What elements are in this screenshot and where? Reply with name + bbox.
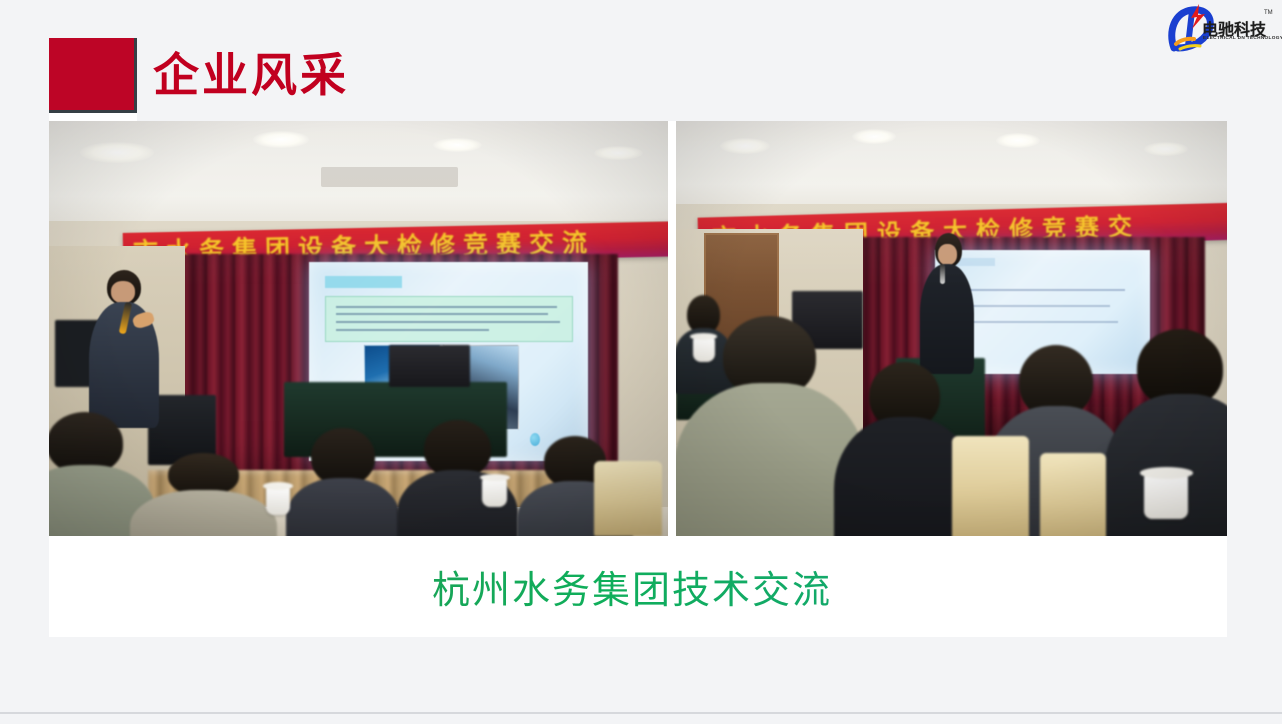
projector-equipment bbox=[389, 345, 469, 387]
ceiling-lamp-icon bbox=[253, 131, 309, 148]
caption-bar: 杭州水务集团技术交流 bbox=[49, 536, 1227, 637]
photo-row: 市水务集团设备大检修竞赛交流 bbox=[49, 121, 1227, 536]
chair bbox=[952, 436, 1029, 536]
ceiling-lamp-icon bbox=[852, 129, 896, 144]
ceiling-lamp-icon bbox=[996, 133, 1040, 148]
ceiling-vent bbox=[321, 167, 457, 188]
audience-body bbox=[286, 478, 400, 536]
speaker-face bbox=[938, 244, 957, 265]
microphone-icon bbox=[940, 264, 945, 284]
tea-cup bbox=[266, 486, 291, 515]
title-accent-swatch bbox=[49, 38, 137, 113]
brand-logo-trademark: TM bbox=[1264, 10, 1273, 16]
chair bbox=[594, 461, 662, 536]
ceiling bbox=[676, 121, 1227, 212]
speaker bbox=[918, 233, 979, 374]
slide-header: 企业风采 bbox=[49, 38, 1227, 118]
audience-member bbox=[841, 362, 968, 536]
audience-body bbox=[130, 490, 277, 536]
tea-cup bbox=[693, 337, 715, 362]
audience-member bbox=[136, 453, 272, 536]
presenter bbox=[86, 270, 166, 428]
slide-titlebar bbox=[325, 276, 402, 289]
ceiling-lamp-icon bbox=[720, 138, 770, 155]
ceiling-lamp-icon bbox=[80, 142, 154, 163]
brand-logo-name-en: ELECTRICAL DN TECHNOLOGY bbox=[1203, 35, 1282, 40]
speaker-body bbox=[920, 264, 975, 374]
tea-cup bbox=[1144, 474, 1188, 520]
chair bbox=[1040, 453, 1106, 536]
presenter-face bbox=[111, 281, 135, 303]
slide-canvas: 企业风采 电驰科技 ELECTRICAL DN TECHNOLOGY TM bbox=[0, 0, 1282, 712]
page-title: 企业风采 bbox=[153, 46, 349, 104]
slide-bottom-edge bbox=[0, 712, 1282, 724]
ceiling-lamp-icon bbox=[433, 138, 483, 153]
audience-head bbox=[311, 428, 374, 485]
brand-logo: 电驰科技 ELECTRICAL DN TECHNOLOGY TM bbox=[1164, 2, 1276, 54]
photo-right[interactable]: 市水务集团设备大检修竞赛交 bbox=[676, 121, 1227, 536]
gallery-card: 市水务集团设备大检修竞赛交流 bbox=[49, 121, 1227, 637]
gallery-caption: 杭州水务集团技术交流 bbox=[432, 559, 832, 614]
photo-left[interactable]: 市水务集团设备大检修竞赛交流 bbox=[49, 121, 668, 536]
tea-cup bbox=[482, 478, 507, 507]
audience-member bbox=[290, 428, 395, 536]
slide-textbox bbox=[325, 296, 573, 342]
